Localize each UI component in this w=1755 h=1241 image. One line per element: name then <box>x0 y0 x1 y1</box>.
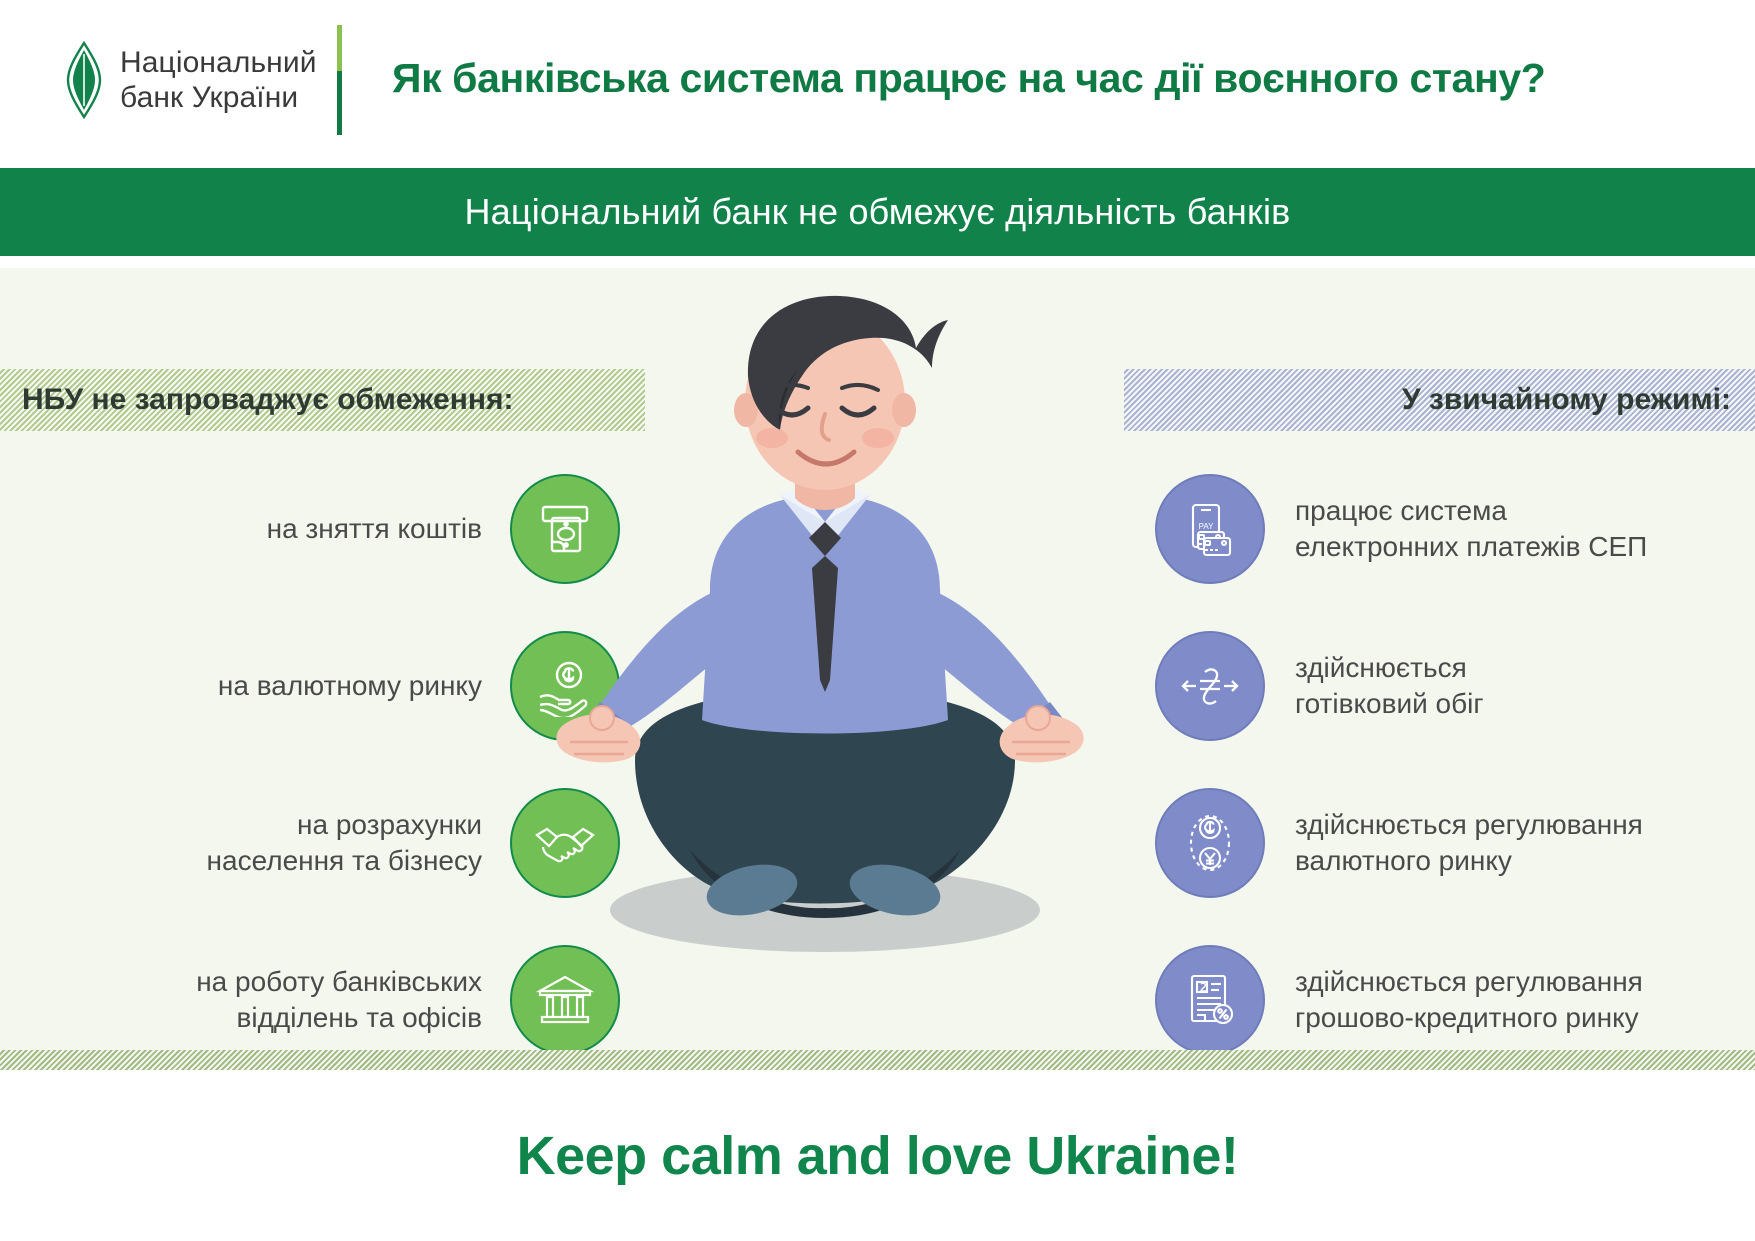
main-statement-text: Національний банк не обмежує діяльність … <box>464 191 1290 233</box>
pay-label: PAY <box>1199 522 1214 531</box>
list-item: здійснюєтьсяготівковий обіг <box>1155 607 1755 764</box>
nbu-logo: Національний банк України <box>62 41 317 119</box>
list-item: здійснюється регулюваннявалютного ринку <box>1155 764 1755 921</box>
list-item: на зняття коштів <box>0 450 620 607</box>
right-item-label-4: здійснюється регулюваннягрошово-кредитно… <box>1295 964 1643 1035</box>
header-divider <box>337 25 342 135</box>
nbu-logo-line-2: банк України <box>120 80 317 115</box>
left-item-label-4: на роботу банківськихвідділень та офісів <box>196 964 482 1035</box>
nbu-logo-text: Національний банк України <box>120 45 317 115</box>
left-column-heading: НБУ не запроваджує обмеження: <box>22 383 513 417</box>
document-percent-icon <box>1155 945 1265 1055</box>
right-column: PAY працює системаелектронних платежів С… <box>1155 450 1755 1078</box>
right-item-label-2: здійснюєтьсяготівковий обіг <box>1295 650 1484 721</box>
footer-slogan: Keep calm and love Ukraine! <box>517 1125 1239 1187</box>
nbu-logo-mark-icon <box>62 41 106 119</box>
page-title: Як банківська система працює на час дії … <box>392 55 1727 102</box>
right-column-heading-band: У звичайному режимі: <box>1124 369 1755 431</box>
right-item-label-1: працює системаелектронних платежів СЕП <box>1295 493 1647 564</box>
header: Національний банк України Як банківська … <box>0 0 1755 160</box>
hryvnia-exchange-arrows-icon <box>1155 631 1265 741</box>
footer-hatch-divider <box>0 1050 1755 1070</box>
list-item: PAY працює системаелектронних платежів С… <box>1155 450 1755 607</box>
left-column: на зняття коштів на валютному ринку <box>0 450 620 1078</box>
left-item-label-2: на валютному ринку <box>218 668 482 703</box>
meditating-businessman-illustration <box>540 290 1100 1020</box>
nbu-logo-line-1: Національний <box>120 45 317 80</box>
footer: Keep calm and love Ukraine! <box>0 1070 1755 1241</box>
list-item: на валютному ринку <box>0 607 620 764</box>
left-item-label-1: на зняття коштів <box>267 511 482 546</box>
infographic-page: Національний банк України Як банківська … <box>0 0 1755 1241</box>
right-item-label-3: здійснюється регулюваннявалютного ринку <box>1295 807 1643 878</box>
list-item: на розрахункинаселення та бізнесу <box>0 764 620 921</box>
dollar-yen-currency-circle-icon <box>1155 788 1265 898</box>
left-item-label-3: на розрахункинаселення та бізнесу <box>207 807 482 878</box>
main-statement-banner: Національний банк не обмежує діяльність … <box>0 168 1755 256</box>
right-column-heading: У звичайному режимі: <box>1402 383 1731 417</box>
mobile-pay-cards-icon: PAY <box>1155 474 1265 584</box>
